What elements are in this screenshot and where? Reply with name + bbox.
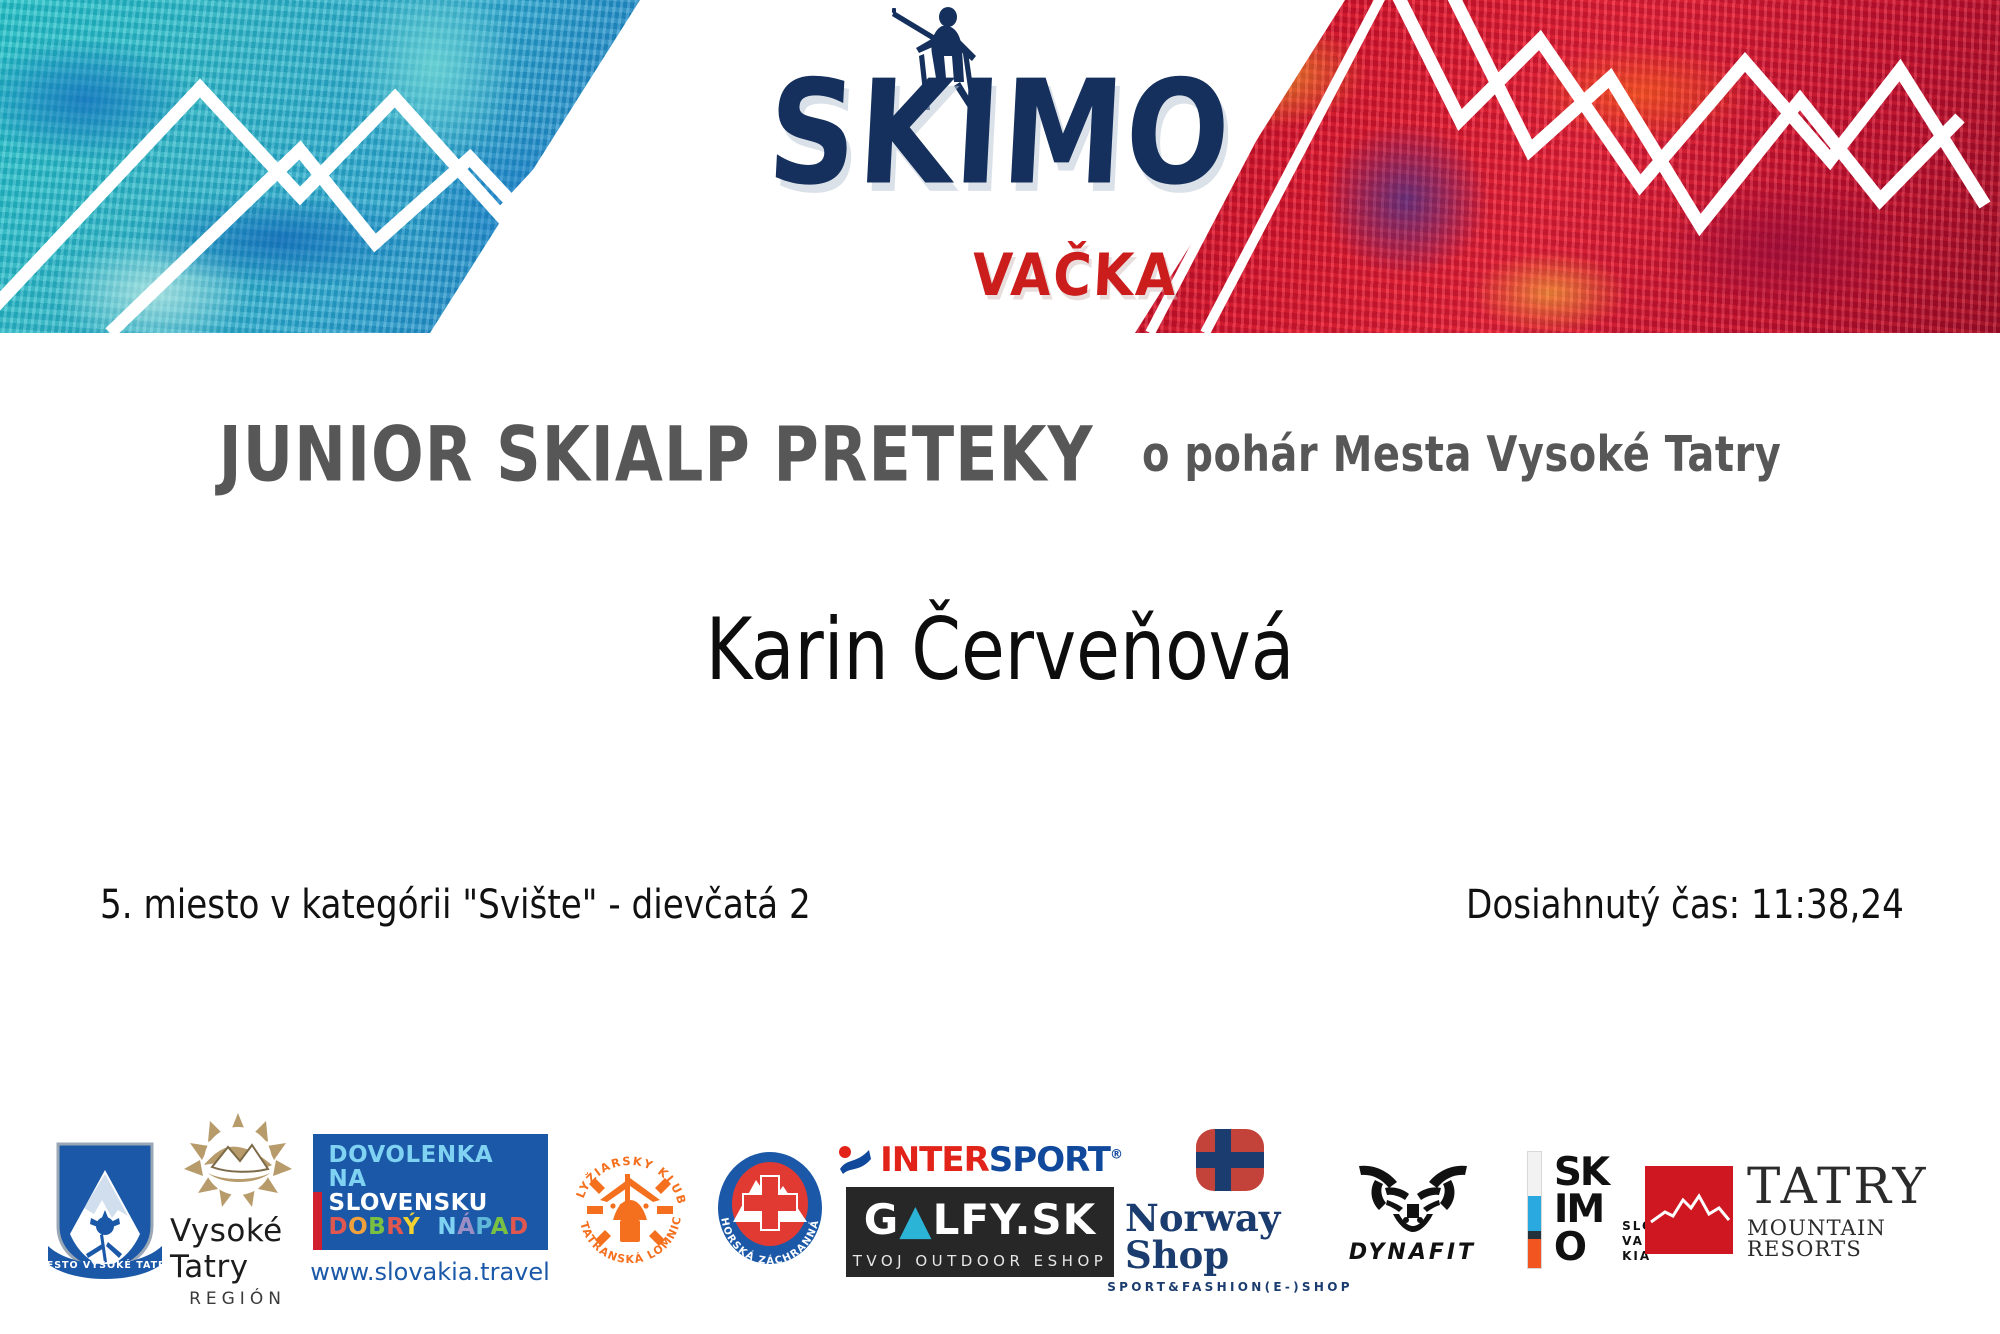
skimo-slovakia-line3: O	[1554, 1229, 1608, 1266]
skimo-logo: SKIMO VAČKA	[735, 0, 1265, 333]
slovakia-travel-line1: DOVOLENKA NA	[329, 1143, 536, 1191]
slovakia-travel-box: DOVOLENKA NA SLOVENSKU DOBRÝ NÁPAD	[313, 1134, 548, 1251]
slovakia-travel-line3: DOBRÝ NÁPAD	[329, 1215, 536, 1239]
tatry-name: TATRY	[1747, 1161, 1945, 1211]
dynafit-name: DYNAFIT	[1349, 1240, 1476, 1265]
intersport-part2: SPORT	[989, 1140, 1110, 1180]
sponsor-intersport-galfy[interactable]: INTERSPORT® G▲LFY.SK TVOJ OUTDOOR ESHOP	[835, 1143, 1125, 1277]
banner-left-texture	[0, 0, 700, 333]
tatry-mountain-icon	[1645, 1166, 1733, 1254]
sponsor-mesto-vysoke-tatry[interactable]: MESTO VYSOKÉ TATRY	[40, 1134, 170, 1286]
horska-zachranna-sluzba-emblem-icon: HORSKÁ ZÁCHRANNÁ SLUŽBA	[711, 1146, 829, 1274]
athlete-name: Karin Červeňová	[80, 600, 1920, 700]
sponsor-norway-shop[interactable]: Norway Shop SPORT&FASHION(E-)SHOP	[1125, 1126, 1335, 1294]
skimo-wordmark: SKIMO	[741, 61, 1259, 205]
mesto-vysoke-tatry-crest-icon: MESTO VYSOKÉ TATRY	[44, 1134, 166, 1286]
galfy-name: G▲LFY.SK	[846, 1195, 1114, 1244]
sponsor-tatry-mountain-resorts[interactable]: TATRY MOUNTAIN RESORTS	[1645, 1161, 1945, 1260]
norway-shop-sub: SPORT&FASHION(E-)SHOP	[1107, 1280, 1353, 1294]
vysoke-tatry-name: Vysoké Tatry	[170, 1213, 305, 1285]
galfy-logo[interactable]: G▲LFY.SK TVOJ OUTDOOR ESHOP	[846, 1187, 1114, 1277]
sponsor-logo-row: MESTO VYSOKÉ TATRY Vysoké Tatry REGIÓN	[0, 1110, 2000, 1310]
galfy-sub: TVOJ OUTDOOR ESHOP	[846, 1252, 1114, 1270]
event-title: JUNIOR SKIALP PRETEKY o pohár Mesta Vyso…	[0, 418, 2000, 491]
sponsor-lyziarsky-klub[interactable]: LYŽIARSKY KLUB TATRANSKÁ LOMNICA	[555, 1144, 705, 1276]
certificate-page: SKIMO VAČKA JUNIOR SKIALP PRETEKY o pohá…	[0, 0, 2000, 1334]
sponsor-dynafit[interactable]: DYNAFIT	[1335, 1156, 1490, 1265]
sponsor-vysoke-tatry-region[interactable]: Vysoké Tatry REGIÓN	[170, 1111, 305, 1309]
result-row: 5. miesto v kategórii "Svište" - dievčat…	[0, 882, 2000, 936]
slovakia-travel-line2: SLOVENSKU	[329, 1191, 536, 1215]
intersport-trademark: ®	[1110, 1148, 1122, 1163]
result-time: Dosiahnutý čas: 11:38,24	[1466, 882, 1904, 928]
intersport-swoosh-icon	[838, 1145, 872, 1175]
event-title-main: JUNIOR SKIALP PRETEKY	[219, 410, 1094, 499]
crest-ribbon-label: MESTO VYSOKÉ TATRY	[44, 1259, 166, 1271]
norway-flag-icon	[1193, 1126, 1267, 1196]
lyziarsky-klub-emblem-icon: LYŽIARSKY KLUB TATRANSKÁ LOMNICA	[565, 1144, 695, 1276]
sponsor-slovakia-travel[interactable]: DOVOLENKA NA SLOVENSKU DOBRÝ NÁPAD www.s…	[305, 1134, 555, 1287]
vysoke-tatry-sun-emblem-icon	[182, 1111, 294, 1211]
event-title-sub: o pohár Mesta Vysoké Tatry	[1142, 426, 1781, 482]
tatry-sub: MOUNTAIN RESORTS	[1747, 1218, 1945, 1260]
vacka-wordmark: VAČKA	[893, 247, 1256, 305]
sponsor-skimo-slovakia[interactable]: SK IM O SLO VA KIA	[1490, 1151, 1645, 1269]
intersport-part1: INTER	[880, 1140, 989, 1180]
skimo-slovakia-line2: IM	[1554, 1191, 1608, 1228]
slovakia-travel-url[interactable]: www.slovakia.travel	[310, 1258, 550, 1286]
intersport-logo[interactable]: INTERSPORT®	[838, 1143, 1122, 1177]
dynafit-leopard-icon	[1353, 1156, 1473, 1238]
skimo-slovakia-wordmark: SK IM O SLO VA KIA	[1554, 1154, 1608, 1266]
norway-shop-name: Norway Shop	[1125, 1200, 1335, 1274]
skimo-slovakia-color-bar	[1527, 1151, 1542, 1269]
header-banner: SKIMO VAČKA	[0, 0, 2000, 333]
vysoke-tatry-sub: REGIÓN	[189, 1289, 286, 1309]
sponsor-horska-zachranna-sluzba[interactable]: HORSKÁ ZÁCHRANNÁ SLUŽBA	[705, 1146, 835, 1274]
skimo-slovakia-line1: SK	[1554, 1154, 1608, 1191]
result-placement: 5. miesto v kategórii "Svište" - dievčat…	[100, 882, 811, 928]
